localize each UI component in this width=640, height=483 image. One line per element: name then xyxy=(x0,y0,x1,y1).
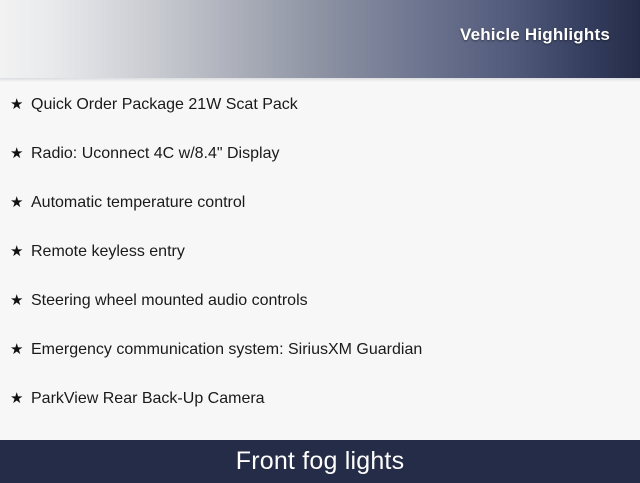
list-item-label: Quick Order Package 21W Scat Pack xyxy=(31,97,298,113)
list-item: ★ Emergency communication system: Sirius… xyxy=(0,342,640,391)
list-item: ★ Radio: Uconnect 4C w/8.4" Display xyxy=(0,146,640,195)
vehicle-highlights-card: Vehicle Highlights ★ Quick Order Package… xyxy=(0,0,640,480)
page-title: Vehicle Highlights xyxy=(460,25,610,45)
star-icon: ★ xyxy=(10,97,31,112)
header-banner: Vehicle Highlights xyxy=(0,0,640,78)
star-icon: ★ xyxy=(10,195,31,210)
list-item-label: Remote keyless entry xyxy=(31,244,185,260)
list-item: ★ Automatic temperature control xyxy=(0,195,640,244)
vehicle-highlights-list: ★ Quick Order Package 21W Scat Pack ★ Ra… xyxy=(0,78,640,440)
footer-feature-label: Front fog lights xyxy=(236,447,405,476)
star-icon: ★ xyxy=(10,146,31,161)
footer-bar: Front fog lights xyxy=(0,440,640,483)
list-item-label: ParkView Rear Back-Up Camera xyxy=(31,391,265,407)
list-item-label: Emergency communication system: SiriusXM… xyxy=(31,342,422,358)
star-icon: ★ xyxy=(10,391,31,406)
list-item-label: Radio: Uconnect 4C w/8.4" Display xyxy=(31,146,279,162)
star-icon: ★ xyxy=(10,244,31,259)
list-item: ★ Quick Order Package 21W Scat Pack xyxy=(0,97,640,146)
list-item: ★ Steering wheel mounted audio controls xyxy=(0,293,640,342)
star-icon: ★ xyxy=(10,293,31,308)
star-icon: ★ xyxy=(10,342,31,357)
list-item-label: Automatic temperature control xyxy=(31,195,245,211)
list-item: ★ Remote keyless entry xyxy=(0,244,640,293)
list-item: ★ ParkView Rear Back-Up Camera xyxy=(0,391,640,440)
list-item-label: Steering wheel mounted audio controls xyxy=(31,293,308,309)
